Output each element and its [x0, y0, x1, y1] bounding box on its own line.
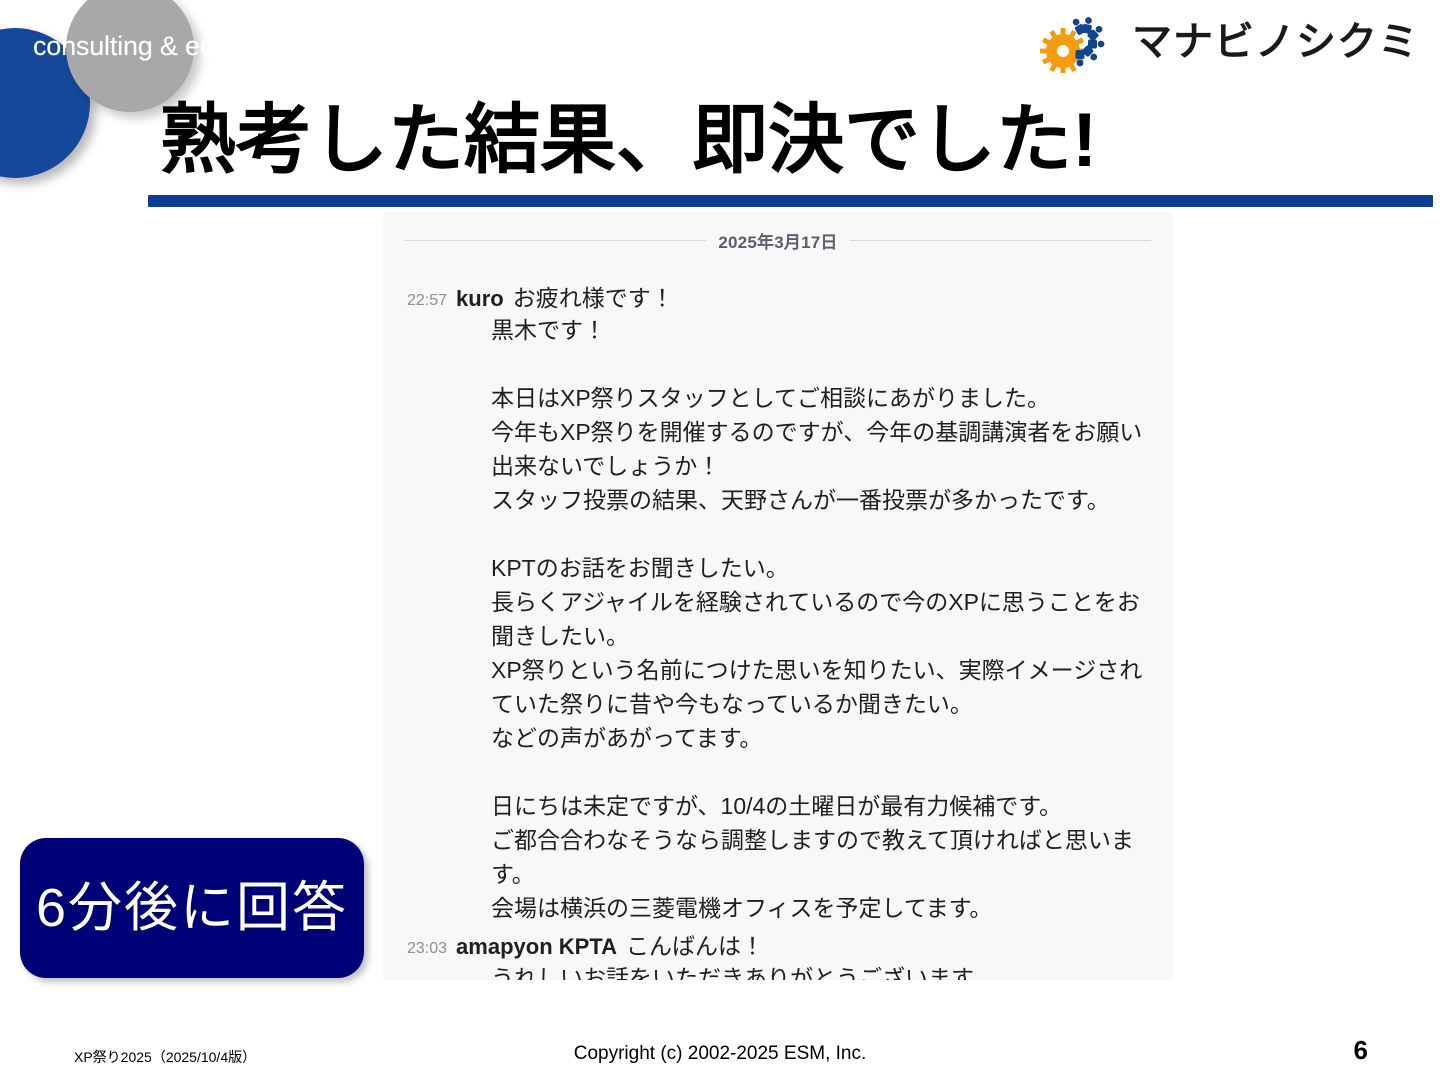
gear-people-logo-icon [1036, 11, 1122, 78]
chat-line: 今年もXP祭りを開催するのですが、今年の基調講演者をお願い出来ないでしょうか！ [491, 415, 1146, 483]
chat-message-username: amapyon KPTA [456, 934, 617, 960]
chat-message-header: 23:03 amapyon KPTA こんばんは！ [407, 927, 1149, 961]
chat-message-list: 22:57 kuro お疲れ様です！ 黒木です！ 本日はXP祭りスタッフとしてご… [383, 279, 1173, 980]
callout-box: 6分後に回答 [20, 838, 364, 978]
chat-message-first-line: お疲れ様です！ [513, 279, 674, 313]
chat-line-blank [491, 755, 1146, 789]
chat-line: KPTのお話をお聞きしたい。 [491, 551, 1146, 585]
page-title: 熟考した結果、即決でした! [160, 96, 1097, 186]
company-logo: マナビノシクミ [1036, 8, 1426, 80]
chat-line: 本日はXP祭りスタッフとしてご相談にあがりました。 [491, 381, 1146, 415]
chat-line: 黒木です！ [491, 313, 1146, 347]
chat-line: 長らくアジャイルを経験されているので今のXPに思うことをお聞きしたい。 [491, 585, 1146, 653]
chat-message-header: 22:57 kuro お疲れ様です！ [407, 279, 1149, 313]
chat-line: スタッフ投票の結果、天野さんが一番投票が多かったです。 [491, 483, 1146, 517]
chat-line: うれしいお話をいただきありがとうございます。 [491, 961, 1146, 980]
chat-date-divider: 2025年3月17日 [405, 228, 1151, 253]
chat-message-body: 黒木です！ 本日はXP祭りスタッフとしてご相談にあがりました。 今年もXP祭りを… [491, 313, 1146, 925]
chat-line: などの声があがってます。 [491, 721, 1146, 755]
chat-message-body: うれしいお話をいただきありがとうございます。 私で良ければ、喜んでお受けいたしま… [491, 961, 1146, 980]
title-underline-rule [148, 195, 1433, 207]
slide-page-number: 6 [1354, 1035, 1368, 1066]
chat-message-username: kuro [456, 286, 504, 312]
footer-copyright: Copyright (c) 2002-2025 ESM, Inc. [0, 1043, 1440, 1065]
chat-line: 日にちは未定ですが、10/4の土曜日が最有力候補です。 [491, 789, 1146, 823]
chat-line-blank [491, 517, 1146, 551]
logo-wordmark: マナビノシクミ [1132, 19, 1422, 70]
svg-text:マナビノシクミ: マナビノシクミ [1132, 20, 1419, 64]
chat-message-first-line: こんばんは！ [626, 927, 764, 961]
brand-tagline: consulting & education [33, 29, 300, 63]
chat-message-time: 22:57 [407, 292, 447, 310]
chat-line-blank [491, 347, 1146, 381]
chat-message-time: 23:03 [407, 940, 447, 958]
date-divider-rule-left [405, 240, 706, 241]
date-divider-rule-right [850, 240, 1151, 241]
chat-screenshot-panel: 2025年3月17日 22:57 kuro お疲れ様です！ 黒木です！ 本日はX… [383, 212, 1173, 980]
chat-line: XP祭りという名前につけた思いを知りたい、実際イメージされていた祭りに昔や今もな… [491, 653, 1146, 721]
callout-text: 6分後に回答 [36, 878, 348, 938]
chat-line: 会場は横浜の三菱電機オフィスを予定してます。 [491, 891, 1146, 925]
chat-line: ご都合合わなそうなら調整しますので教えて頂ければと思います。 [491, 823, 1146, 891]
chat-message: 23:03 amapyon KPTA こんばんは！ うれしいお話をいただきありが… [407, 927, 1149, 980]
chat-date-label: 2025年3月17日 [718, 228, 837, 253]
chat-message: 22:57 kuro お疲れ様です！ 黒木です！ 本日はXP祭りスタッフとしてご… [407, 279, 1149, 925]
